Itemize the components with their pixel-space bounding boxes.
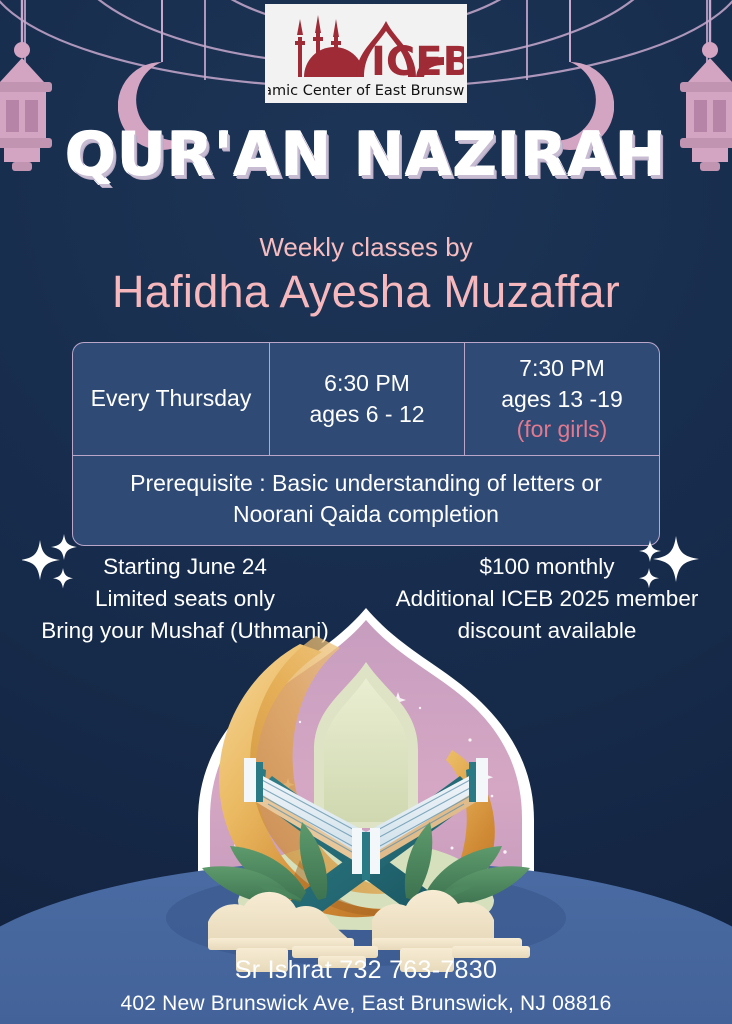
session-note: (for girls) [517,414,608,445]
logo-subtitle: Islamic Center of East Brunswick [268,83,464,99]
footer: Sr Ishrat 732 763-7830 402 New Brunswick… [0,956,732,1016]
schedule-row: Every Thursday 6:30 PM ages 6 - 12 7:30 … [72,342,660,455]
venue-address: 402 New Brunswick Ave, East Brunswick, N… [0,992,732,1016]
prerequisite-line-2: Noorani Qaida completion [83,499,649,531]
presenter-prefix: Weekly classes by [0,232,732,263]
detail-line: $100 monthly [382,551,712,583]
schedule-session-cell-2: 7:30 PM ages 13 -19 (for girls) [464,343,659,455]
schedule-day-cell: Every Thursday [73,343,269,455]
logo-acronym: ICEB [371,39,464,85]
schedule-day-label: Every Thursday [91,385,252,412]
session-ages: ages 13 -19 [501,384,622,415]
prerequisite-row: Prerequisite : Basic understanding of le… [72,455,660,546]
prerequisite-line-1: Prerequisite : Basic understanding of le… [83,468,649,500]
schedule-table: Every Thursday 6:30 PM ages 6 - 12 7:30 … [72,342,660,546]
session-time: 6:30 PM [324,368,410,399]
presenter-name: Hafidha Ayesha Muzaffar [0,266,732,318]
page-title: QUR'AN NAZIRAH [0,120,732,190]
prerequisite-cell: Prerequisite : Basic understanding of le… [73,456,659,545]
detail-line: Starting June 24 [20,551,350,583]
session-ages: ages 6 - 12 [309,399,424,430]
session-time: 7:30 PM [519,353,605,384]
contact-phone[interactable]: Sr Ishrat 732 763-7830 [0,956,732,985]
iceb-logo: ICEB Islamic Center of East Brunswick [265,4,467,103]
schedule-session-cell-1: 6:30 PM ages 6 - 12 [269,343,464,455]
poster: ICEB Islamic Center of East Brunswick QU… [0,0,732,1024]
